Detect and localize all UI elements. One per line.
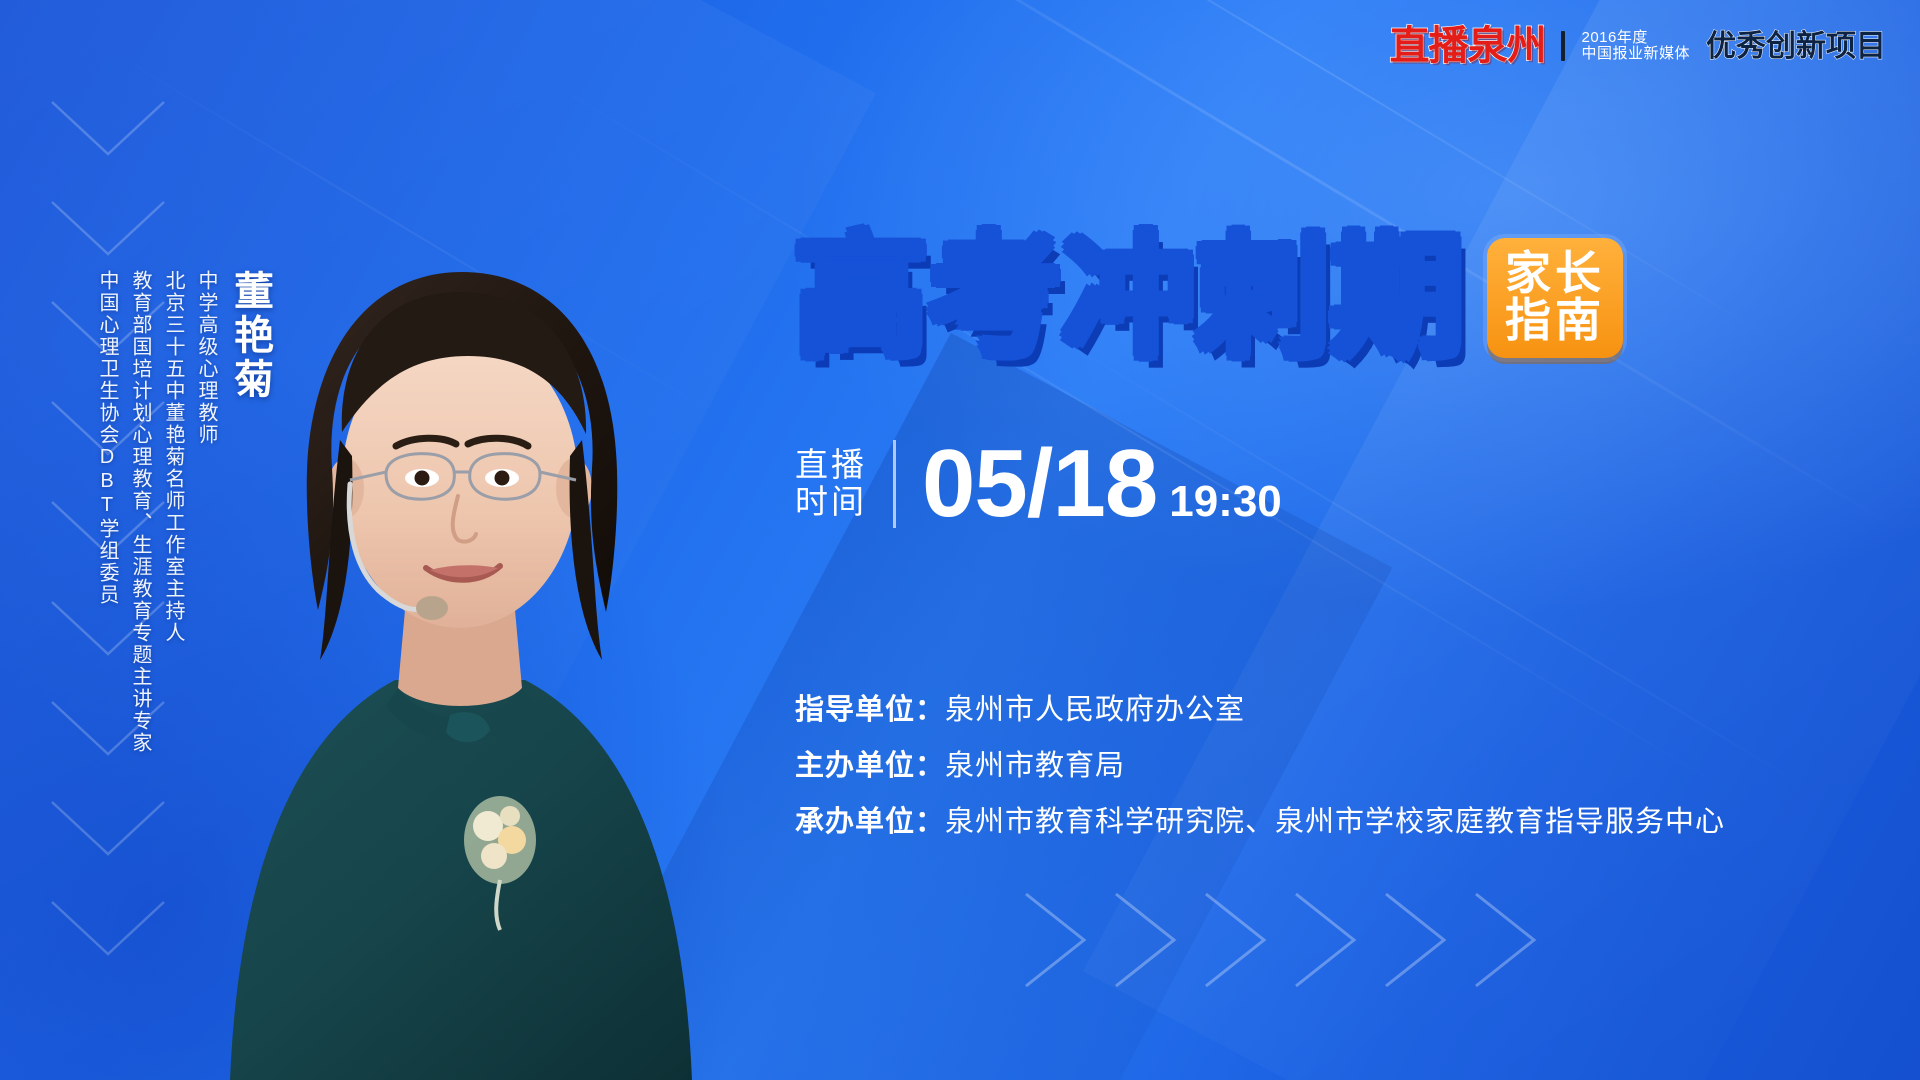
live-label-line-2: 时间 [795, 484, 867, 521]
organizer-label-undertaker: 承办单位： [795, 798, 945, 840]
list-item: 主办单位： 泉州市教育局 [795, 742, 1725, 784]
live-time-label: 直播 时间 [795, 447, 867, 521]
award-title: 优秀创新项目 [1706, 30, 1886, 63]
date-time-group: 05/18 19:30 [922, 438, 1282, 529]
list-item: 承办单位： 泉州市教育科学研究院、泉州市学校家庭教育指导服务中心 [795, 798, 1725, 840]
vertical-bar-icon [1561, 31, 1565, 61]
organizer-value-host: 泉州市教育局 [945, 742, 1125, 784]
status-badge: 家长 指南 [1487, 238, 1623, 358]
speaker-credential-3: 教育部国培计划心理教育、生涯教育专题主讲专家 [130, 270, 150, 754]
organizer-list: 指导单位： 泉州市人民政府办公室 主办单位： 泉州市教育局 承办单位： 泉州市教… [795, 686, 1725, 840]
organizer-label-host: 主办单位： [795, 742, 945, 784]
organizer-value-undertaker: 泉州市教育科学研究院、泉州市学校家庭教育指导服务中心 [945, 798, 1725, 840]
speaker-credential-4: 中国心理卫生协会DBT学组委员 [97, 270, 117, 606]
header-logo-bar: 直播泉州 2016年度 中国报业新媒体 优秀创新项目 [1389, 26, 1886, 66]
organizer-label-guidance: 指导单位： [795, 686, 945, 728]
broadcast-date: 05/18 [922, 438, 1157, 529]
speaker-credential-2: 北京三十五中董艳菊名师工作室主持人 [163, 270, 183, 644]
poster-canvas: 董艳菊 中学高级心理教师 北京三十五中董艳菊名师工作室主持人 教育部国培计划心理… [0, 0, 1920, 1080]
chevron-right-outline-icon [1020, 880, 1580, 1000]
page-title: 高考冲刺期 [795, 232, 1465, 364]
brand-logo[interactable]: 直播泉州 [1389, 26, 1545, 66]
schedule-row: 直播 时间 05/18 19:30 [795, 438, 1282, 529]
badge-line-2: 指南 [1505, 297, 1605, 344]
live-label-line-1: 直播 [795, 447, 867, 484]
list-item: 指导单位： 泉州市人民政府办公室 [795, 686, 1725, 728]
speaker-portrait [200, 140, 720, 1080]
badge-line-1: 家长 [1505, 250, 1605, 297]
speaker-credentials-block: 董艳菊 中学高级心理教师 北京三十五中董艳菊名师工作室主持人 教育部国培计划心理… [84, 270, 270, 754]
organizer-value-guidance: 泉州市人民政府办公室 [945, 686, 1245, 728]
speaker-credential-1: 中学高级心理教师 [196, 270, 216, 446]
award-block: 2016年度 中国报业新媒体 [1581, 30, 1690, 62]
broadcast-time: 19:30 [1169, 477, 1282, 527]
title-row: 高考冲刺期 家长 指南 [795, 232, 1623, 364]
divider [893, 440, 896, 528]
award-year: 2016年度 [1581, 30, 1647, 46]
chevron-row-bottom-right [1020, 880, 1580, 1000]
award-organization: 中国报业新媒体 [1581, 46, 1690, 62]
speaker-name: 董艳菊 [230, 270, 270, 402]
